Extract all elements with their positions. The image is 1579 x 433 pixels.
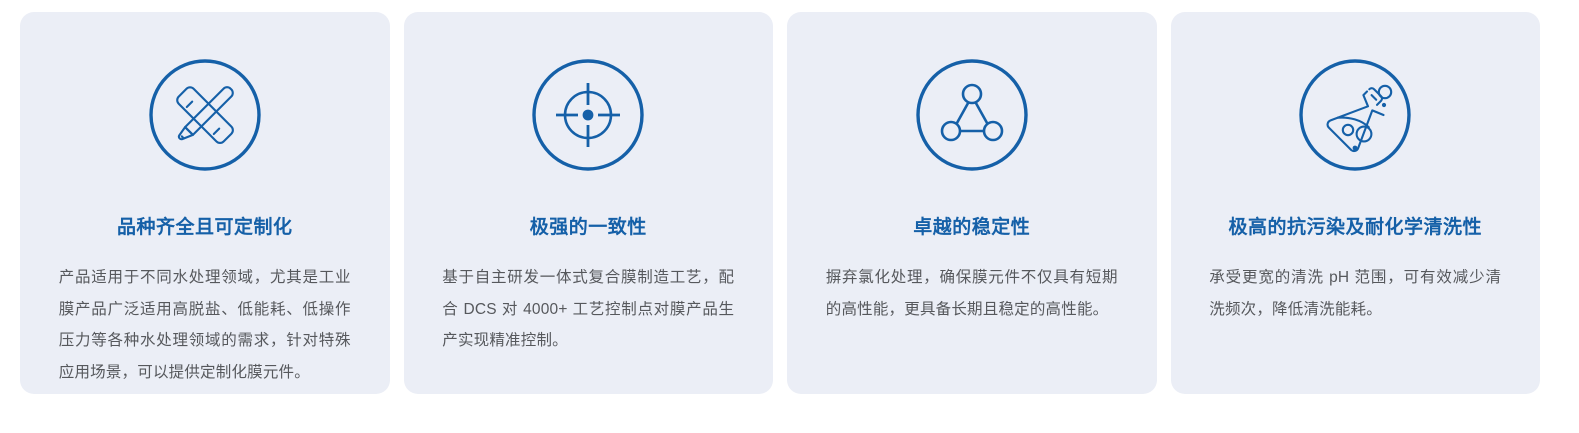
card-title: 极强的一致性: [530, 217, 647, 240]
card-description: 摒弃氯化处理，确保膜元件不仅具有短期的高性能，更具备长期且稳定的高性能。: [826, 262, 1118, 326]
card-title: 极高的抗污染及耐化学清洗性: [1228, 217, 1482, 240]
feature-card-variety[interactable]: 品种齐全且可定制化 产品适用于不同水处理领域，尤其是工业膜产品广泛适用高脱盐、低…: [20, 12, 390, 394]
feature-card-stability[interactable]: 卓越的稳定性 摒弃氯化处理，确保膜元件不仅具有短期的高性能，更具备长期且稳定的高…: [787, 12, 1157, 394]
feature-card-grid: 品种齐全且可定制化 产品适用于不同水处理领域，尤其是工业膜产品广泛适用高脱盐、低…: [0, 0, 1579, 433]
card-title: 卓越的稳定性: [913, 217, 1030, 240]
chemistry-flask-icon: [1297, 57, 1413, 173]
card-title: 品种齐全且可定制化: [117, 217, 293, 240]
card-description: 承受更宽的清洗 pH 范围，可有效减少清洗频次，降低清洗能耗。: [1209, 262, 1501, 326]
pencil-ruler-icon: [147, 57, 263, 173]
triangle-network-icon: [914, 57, 1030, 173]
card-description: 产品适用于不同水处理领域，尤其是工业膜产品广泛适用高脱盐、低能耗、低操作压力等各…: [59, 262, 351, 389]
crosshair-target-icon: [530, 57, 646, 173]
card-description: 基于自主研发一体式复合膜制造工艺，配合 DCS 对 4000+ 工艺控制点对膜产…: [442, 262, 734, 357]
feature-card-antifouling[interactable]: 极高的抗污染及耐化学清洗性 承受更宽的清洗 pH 范围，可有效减少清洗频次，降低…: [1171, 12, 1541, 394]
feature-card-consistency[interactable]: 极强的一致性 基于自主研发一体式复合膜制造工艺，配合 DCS 对 4000+ 工…: [404, 12, 774, 394]
